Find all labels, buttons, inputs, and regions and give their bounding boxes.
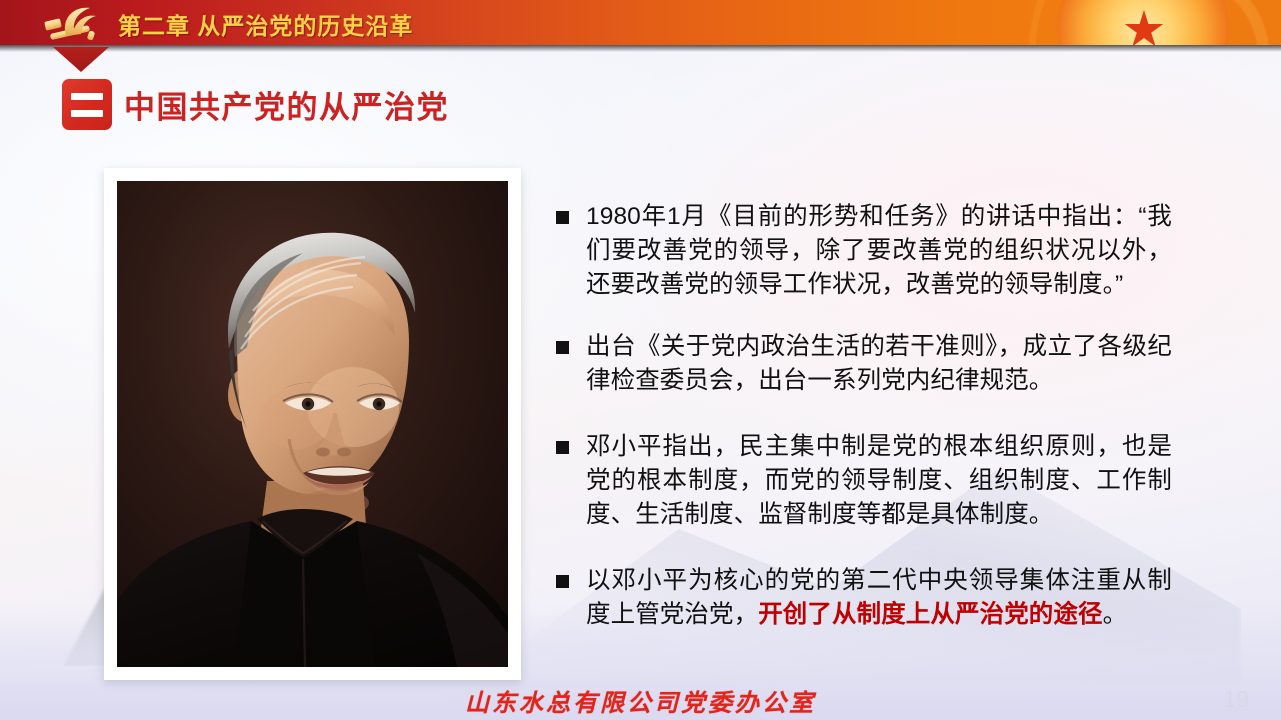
bullet-text: 以邓小平为核心的党的第二代中央领导集体注重从制度上管党治党，开创了从制度上从严治… [586,564,1172,632]
organization-footer: 山东水总有限公司党委办公室 [0,683,1281,718]
bullet-item: 邓小平指出，民主集中制是党的根本组织原则，也是党的根本制度，而党的领导制度、组织… [556,430,1172,532]
square-bullet-icon [556,441,569,454]
bullet-text: 1980年1月《目前的形势和任务》的讲话中指出：“我们要改善党的领导，除了要改善… [586,200,1172,302]
bullet-text: 出台《关于党内政治生活的若干准则》，成立了各级纪律检查委员会，出台一系列党内纪律… [586,330,1172,398]
portrait-photo [117,181,508,667]
section-title: 中国共产党的从严治党 [124,82,449,127]
slide-root: 第二章 从严治党的历史沿革 中国共产党的从严治党 [0,0,1281,720]
header-drop-shadow [0,45,1281,52]
section-number-bar-bottom [71,110,103,117]
chapter-header-bar: 第二章 从严治党的历史沿革 [0,0,1281,45]
portrait-photo-frame [104,168,521,680]
bullet-spacer [556,402,1172,430]
bullet-text-highlight: 开创了从制度上从严治党的途径 [758,601,1102,628]
bullet-text-tail: 。 [1103,601,1128,628]
bullet-list: 1980年1月《目前的形势和任务》的讲话中指出：“我们要改善党的领导，除了要改善… [556,200,1172,636]
party-emblem-icon [33,3,117,43]
page-number: 19 [1223,686,1249,713]
square-bullet-icon [556,211,569,224]
bullet-spacer [556,536,1172,564]
bullet-text: 邓小平指出，民主集中制是党的根本组织原则，也是党的根本制度，而党的领导制度、组织… [586,430,1172,532]
square-bullet-icon [556,341,569,354]
bullet-item: 以邓小平为核心的党的第二代中央领导集体注重从制度上管党治党，开创了从制度上从严治… [556,564,1172,632]
bullet-item: 出台《关于党内政治生活的若干准则》，成立了各级纪律检查委员会，出台一系列党内纪律… [556,330,1172,398]
section-number-badge [62,79,112,130]
section-number-bar-top [71,93,103,100]
bullet-item: 1980年1月《目前的形势和任务》的讲话中指出：“我们要改善党的领导，除了要改善… [556,200,1172,302]
chapter-title: 第二章 从严治党的历史沿革 [118,7,413,41]
square-bullet-icon [556,575,569,588]
bullet-spacer [556,306,1172,330]
